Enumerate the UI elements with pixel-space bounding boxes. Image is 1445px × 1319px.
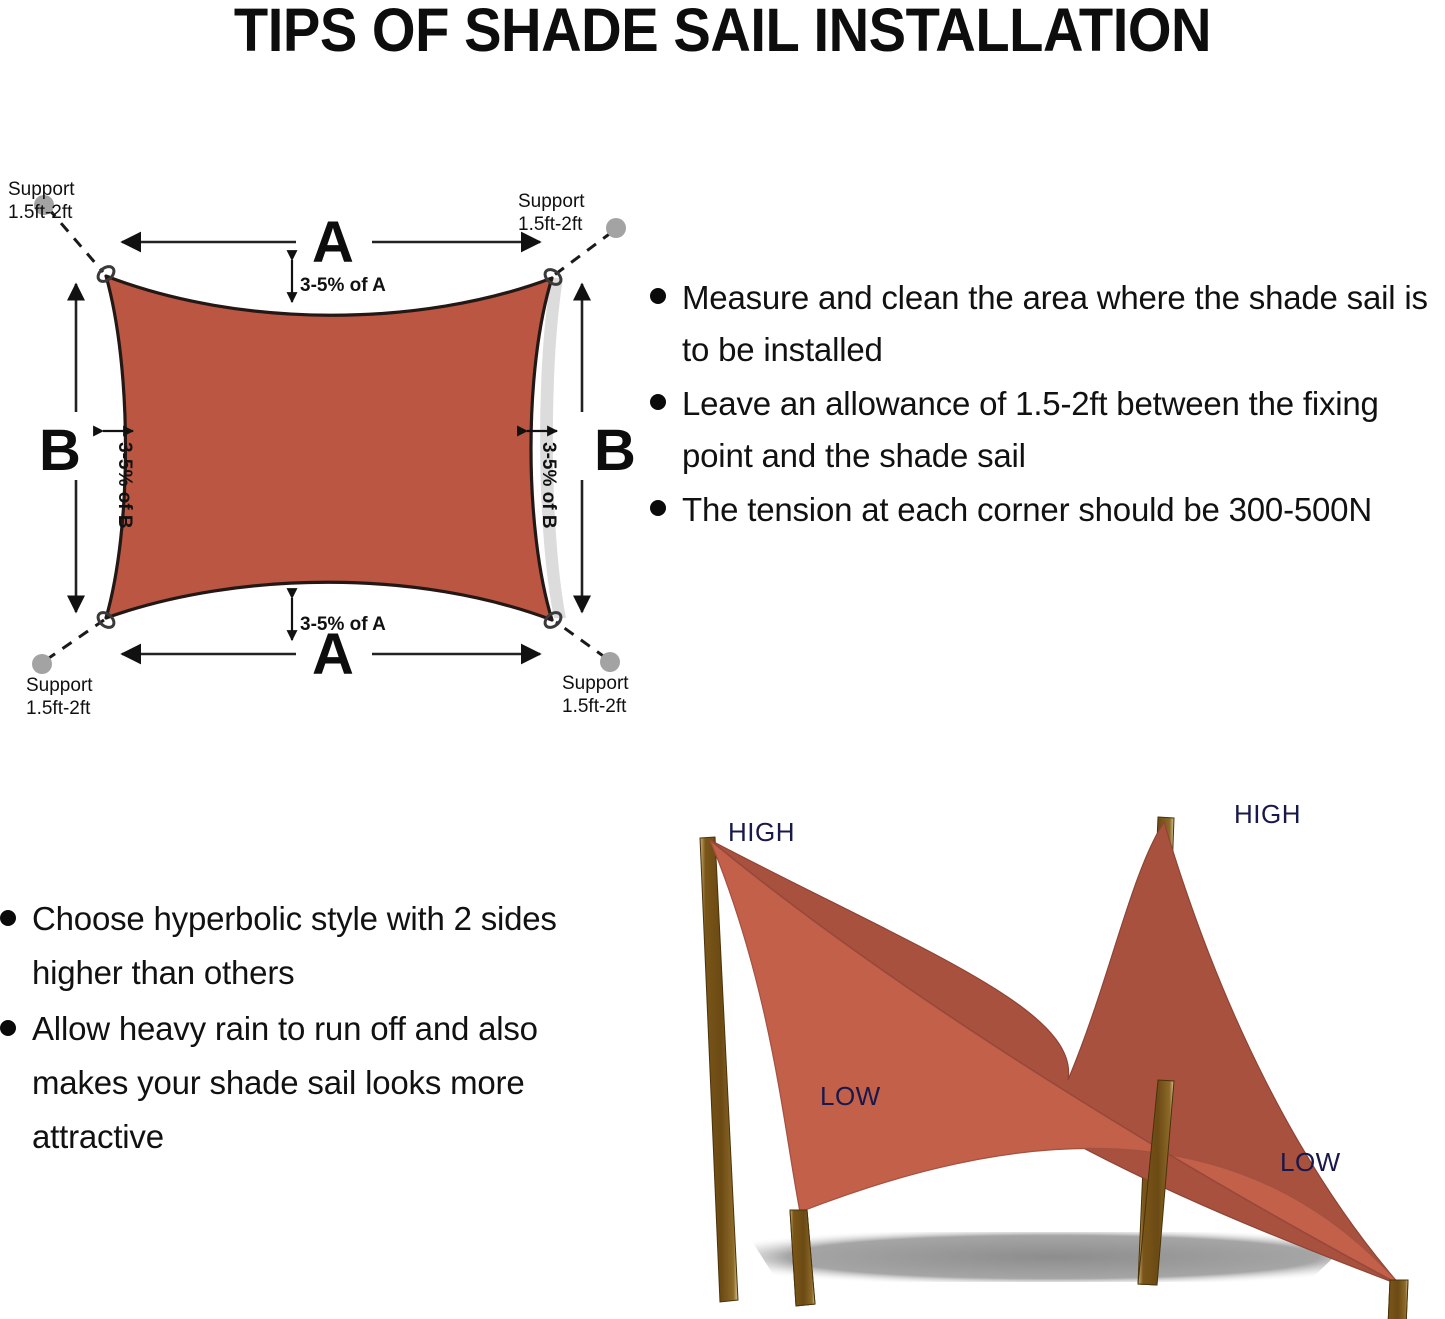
post-low-left-front-segment	[790, 1210, 815, 1306]
support-label-text: Support	[518, 190, 585, 213]
sag-a-top-label: 3-5% of A	[300, 275, 386, 296]
support-label-value: 1.5ft-2ft	[8, 201, 75, 224]
bullet-text: Choose hyperbolic style with 2 sides hig…	[32, 892, 630, 1000]
bullet-text: Leave an allowance of 1.5-2ft between th…	[682, 378, 1445, 482]
installation-tips-right-column: Measure and clean the area where the sha…	[650, 272, 1445, 538]
support-label-bottom-left: Support 1.5ft-2ft	[26, 674, 93, 720]
list-item: Allow heavy rain to run off and also mak…	[0, 1002, 630, 1164]
sag-b-left-label: 3-5% of B	[114, 442, 135, 529]
support-label-top-right: Support 1.5ft-2ft	[518, 190, 585, 236]
hyperbolic-sail-illustration: HIGH HIGH LOW LOW	[660, 780, 1445, 1319]
support-label-top-left: Support 1.5ft-2ft	[8, 178, 75, 224]
support-label-value: 1.5ft-2ft	[26, 697, 93, 720]
installation-tips-bottom-left-column: Choose hyperbolic style with 2 sides hig…	[0, 892, 630, 1166]
bullet-dot-icon	[650, 288, 666, 304]
list-item: The tension at each corner should be 300…	[650, 484, 1445, 536]
sag-b-right-label: 3-5% of B	[538, 442, 559, 529]
dimension-b-left-label: B	[39, 418, 81, 483]
label-low-right: LOW	[1280, 1148, 1341, 1176]
bullet-text: Allow heavy rain to run off and also mak…	[32, 1002, 630, 1164]
sag-a-bottom-label: 3-5% of A	[300, 614, 386, 635]
support-label-text: Support	[26, 674, 93, 697]
label-low-left: LOW	[820, 1082, 881, 1110]
bullet-text: Measure and clean the area where the sha…	[682, 272, 1445, 376]
post-low-right-front-segment	[1386, 1280, 1408, 1319]
list-item: Measure and clean the area where the sha…	[650, 272, 1445, 376]
bullet-dot-icon	[0, 1020, 16, 1036]
rectangular-sail-diagram: A 3-5% of A A 3-5% of A B	[0, 150, 660, 730]
page-root: TIPS OF SHADE SAIL INSTALLATION	[0, 0, 1445, 1319]
bullet-dot-icon	[650, 500, 666, 516]
bullet-dot-icon	[0, 910, 16, 926]
support-label-text: Support	[8, 178, 75, 201]
dimension-b-right-label: B	[594, 418, 636, 483]
support-label-value: 1.5ft-2ft	[562, 695, 629, 718]
bullet-text: The tension at each corner should be 300…	[682, 484, 1372, 536]
ground-shadow	[746, 1232, 1360, 1282]
label-high-left: HIGH	[728, 818, 795, 846]
shade-sail-fabric	[106, 276, 552, 620]
list-item: Leave an allowance of 1.5-2ft between th…	[650, 378, 1445, 482]
label-high-right: HIGH	[1234, 800, 1301, 828]
dimension-a-top-label: A	[312, 210, 354, 275]
list-item: Choose hyperbolic style with 2 sides hig…	[0, 892, 630, 1000]
support-label-value: 1.5ft-2ft	[518, 213, 585, 236]
page-title: TIPS OF SHADE SAIL INSTALLATION	[58, 0, 1387, 62]
support-label-text: Support	[562, 672, 629, 695]
bullet-dot-icon	[650, 394, 666, 410]
support-label-bottom-right: Support 1.5ft-2ft	[562, 672, 629, 718]
